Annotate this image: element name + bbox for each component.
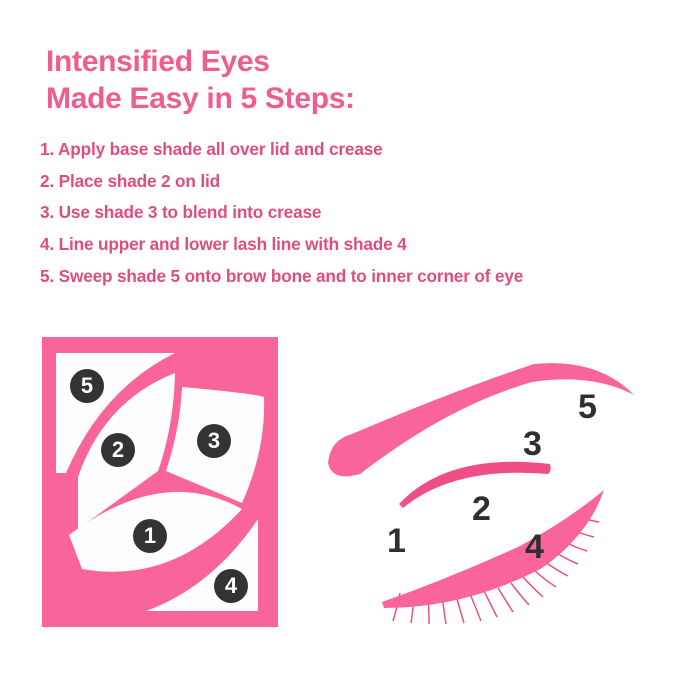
instruction-graphic: Intensified Eyes Made Easy in 5 Steps: 1… [0, 0, 679, 679]
palette-badge-1-label: 1 [144, 523, 156, 548]
step-item-3: 3. Use shade 3 to blend into crease [40, 204, 660, 221]
step-item-1: 1. Apply base shade all over lid and cre… [40, 141, 660, 158]
lash-line [382, 490, 604, 608]
eye-svg: 1 2 3 4 5 [320, 340, 650, 625]
figures-row: 5 2 3 1 [0, 330, 679, 630]
step-item-5: 5. Sweep shade 5 onto brow bone and to i… [40, 268, 660, 285]
eye-label-4: 4 [525, 528, 544, 566]
eye-label-3: 3 [523, 425, 542, 463]
page-title-line-2: Made Easy in 5 Steps: [46, 81, 646, 118]
steps-list: 1. Apply base shade all over lid and cre… [40, 141, 660, 300]
palette-diagram: 5 2 3 1 [42, 337, 278, 627]
eye-label-5: 5 [578, 388, 597, 426]
palette-badge-3: 3 [197, 424, 231, 458]
palette-badge-4-label: 4 [225, 573, 238, 598]
palette-badge-4: 4 [214, 569, 248, 603]
eye-label-2: 2 [472, 490, 491, 528]
palette-badge-3-label: 3 [208, 428, 220, 453]
palette-badge-2: 2 [101, 433, 135, 467]
page-title: Intensified Eyes Made Easy in 5 Steps: [46, 44, 646, 118]
eye-diagram: 1 2 3 4 5 [320, 340, 650, 625]
page-title-line-1: Intensified Eyes [46, 44, 646, 81]
step-item-4: 4. Line upper and lower lash line with s… [40, 236, 660, 253]
eye-label-1: 1 [387, 522, 406, 560]
palette-badge-2-label: 2 [112, 437, 124, 462]
palette-badge-1: 1 [133, 519, 167, 553]
palette-badge-5: 5 [70, 369, 104, 403]
palette-svg: 5 2 3 1 [42, 337, 278, 627]
palette-badge-5-label: 5 [81, 373, 93, 398]
step-item-2: 2. Place shade 2 on lid [40, 173, 660, 190]
